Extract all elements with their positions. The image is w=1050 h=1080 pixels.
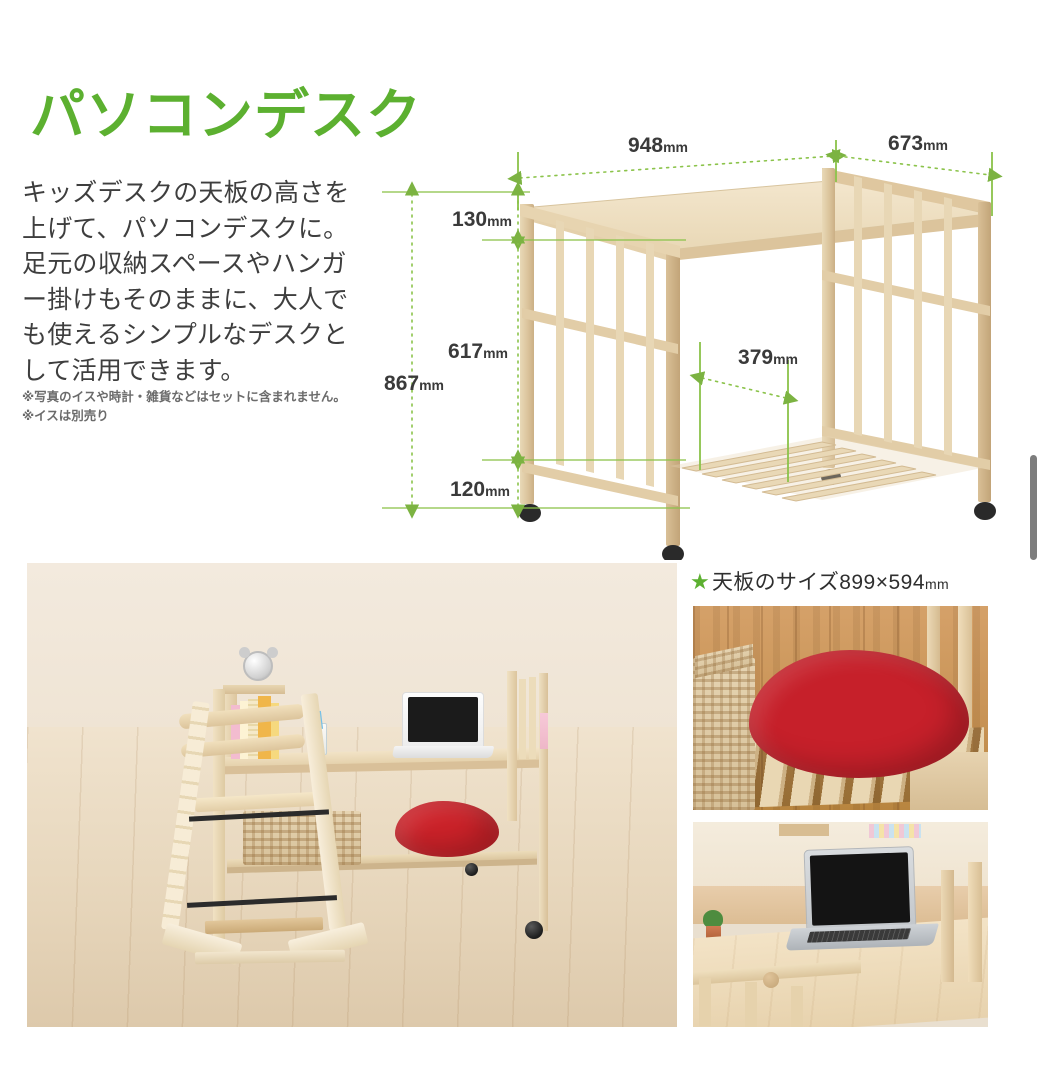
dim-label-673: 673mm (888, 132, 948, 155)
scrollbar-thumb[interactable] (1030, 455, 1037, 560)
dimension-diagram: 948mm 673mm 130mm 617mm 867mm 120mm (370, 130, 1030, 560)
photo-room-scene[interactable] (27, 563, 677, 1027)
product-label (540, 713, 548, 749)
dim-label-130: 130mm (452, 208, 512, 231)
dim-label-120: 120mm (450, 478, 510, 501)
callout-label: 天板のサイズ (712, 571, 839, 594)
callout-unit: mm (925, 576, 949, 592)
caster (525, 921, 543, 939)
wicker-basket (693, 658, 755, 810)
clock-shelf (223, 685, 285, 694)
wicker-basket (243, 811, 361, 865)
dim-label-867: 867mm (384, 372, 444, 395)
note-line-2: ※イスは別売り (22, 407, 382, 426)
disclaimer-notes: ※写真のイスや時計・雑貨などはセットに含まれません。 ※イスは別売り (22, 388, 382, 427)
knob-icon (763, 972, 779, 988)
product-page: パソコンデスク キッズデスクの天板の高さを上げて、パソコンデスクに。足元の収納ス… (0, 0, 1050, 1080)
page-title: パソコンデスク (30, 88, 422, 143)
lead-description: キッズデスクの天板の高さを上げて、パソコンデスクに。足元の収納スペースやハンガー… (22, 176, 367, 389)
desk-right-post (507, 671, 517, 821)
dim-label-617: 617mm (448, 340, 508, 363)
photo-cushion-shelf[interactable] (693, 606, 988, 810)
lower-shelf (670, 436, 982, 501)
dim-label-379: 379mm (738, 346, 798, 369)
callout-size: 899×594 (839, 571, 925, 594)
star-icon: ★ (690, 569, 710, 594)
dim-label-948: 948mm (628, 134, 688, 157)
note-line-1: ※写真のイスや時計・雑貨などはセットに含まれません。 (22, 388, 382, 407)
photo-laptop-on-desk[interactable] (693, 822, 988, 1027)
tabletop-size-callout: ★天板のサイズ899×594mm (690, 566, 949, 596)
wall-decor (869, 824, 921, 838)
